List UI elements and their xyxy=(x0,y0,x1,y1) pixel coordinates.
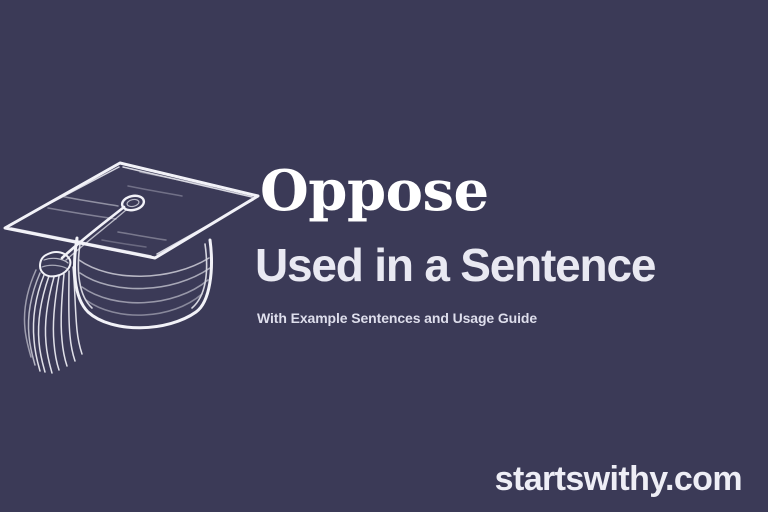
cap-tassel-cord-sketch xyxy=(66,210,126,260)
brand-watermark: startswithy.com xyxy=(495,462,742,496)
cap-tassel-head xyxy=(40,252,70,276)
word-title: Oppose xyxy=(260,163,489,219)
cap-button-highlight xyxy=(126,198,139,207)
cap-crown-sketch-lines xyxy=(77,240,210,315)
social-card: Oppose Used in a Sentence With Example S… xyxy=(0,0,768,512)
graduation-cap-illustration xyxy=(0,140,270,375)
cap-button xyxy=(121,194,145,212)
cap-tassel-strands xyxy=(24,267,82,373)
subheadline: With Example Sentences and Usage Guide xyxy=(257,310,537,327)
mortarboard-top-sketch-lines xyxy=(9,167,253,256)
headline: Used in a Sentence xyxy=(255,241,655,289)
